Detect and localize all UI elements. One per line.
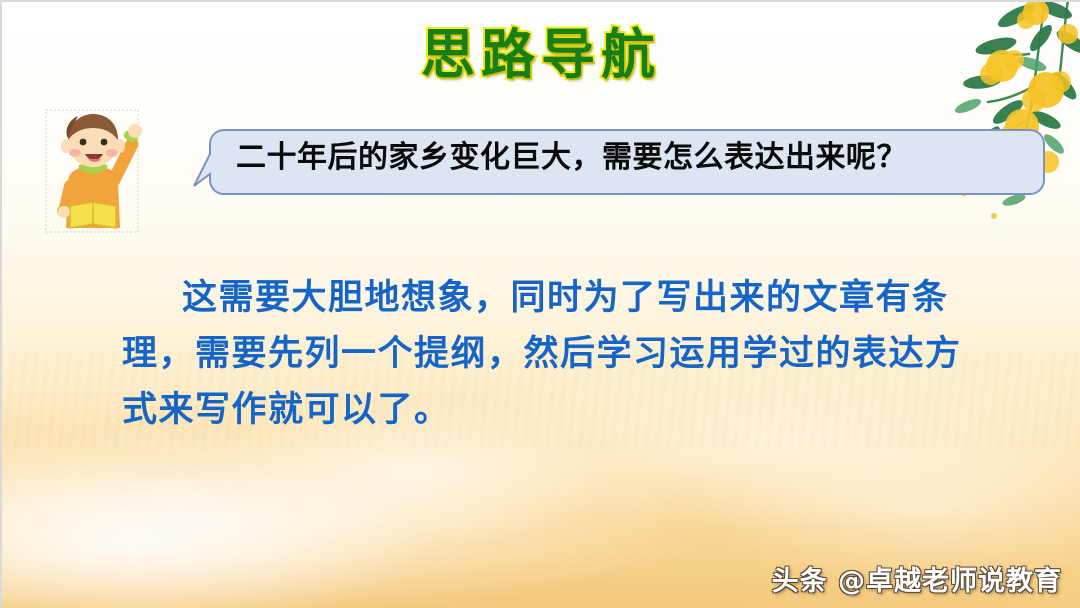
body-paragraph: 这需要大胆地想象，同时为了写出来的文章有条 理，需要先列一个提纲，然后学习运用学… [122, 270, 1012, 438]
body-line: 理，需要先列一个提纲，然后学习运用学过的表达方 [122, 326, 1012, 382]
speech-bubble-text: 二十年后的家乡变化巨大，需要怎么表达出来呢？ [236, 124, 1034, 192]
body-line: 式来写作就可以了。 [122, 382, 1012, 438]
body-line: 这需要大胆地想象，同时为了写出来的文章有条 [122, 270, 1012, 326]
boy-icon [40, 106, 150, 238]
watermark-text: 头条 @卓越老师说教育 [772, 559, 1062, 598]
page-title: 思路导航 [2, 10, 1080, 89]
speech-bubble: 二十年后的家乡变化巨大，需要怎么表达出来呢？ [192, 124, 1048, 198]
student-illustration [40, 106, 150, 238]
slide-canvas: 思路导航 [0, 0, 1080, 608]
